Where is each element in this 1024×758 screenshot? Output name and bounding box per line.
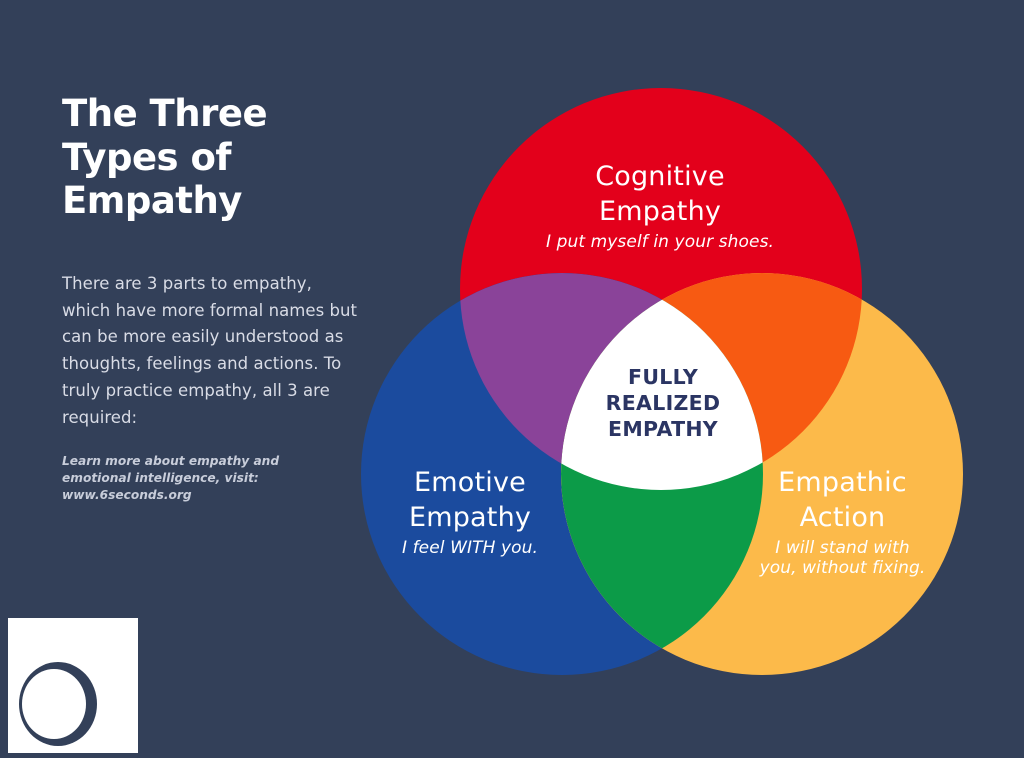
venn-diagram [330,58,1024,753]
intro-paragraph: There are 3 parts to empathy, which have… [62,223,362,431]
learn-more-note: Learn more about empathy and emotional i… [62,431,324,504]
intro-column: The Three Types of Empathy There are 3 p… [62,92,362,505]
page-title: The Three Types of Empathy [62,92,362,223]
infographic-canvas: The Three Types of Empathy There are 3 p… [0,0,1024,753]
six-seconds-logo-mark [8,618,138,753]
six-seconds-logo [8,618,138,753]
venn-diagram-svg [330,58,1024,753]
